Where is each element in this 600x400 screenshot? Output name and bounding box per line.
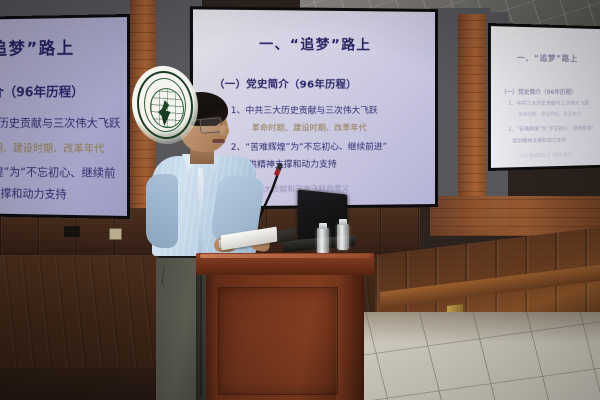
presenter-nose [220, 125, 229, 136]
bottle-cap [339, 219, 347, 225]
lecture-hall-photo: 一、“追梦”路上 （一）党史简介（96年历程） 1、中共三大历史贡献与三次伟大飞… [0, 0, 600, 400]
cable [46, 236, 112, 251]
water-bottle [337, 224, 349, 250]
shirt-placket [198, 168, 203, 254]
podium-side [336, 274, 364, 400]
podium-shadow [196, 274, 216, 400]
podium-front-panel [218, 287, 338, 395]
trouser-pocket [161, 267, 187, 292]
left-screen-frame [0, 14, 130, 219]
bottle-cap [319, 223, 327, 229]
right-screen-frame [488, 23, 600, 171]
water-bottle [317, 228, 329, 254]
podium-top-highlight [200, 254, 370, 258]
presenter-mouth [212, 139, 225, 144]
right-projection-screen: 一、“追梦”路上 （一）党史简介（96年历程） 1、中共三大历史贡献与三次伟大飞… [488, 23, 600, 171]
presenter-left-arm [146, 174, 178, 248]
podium [196, 253, 374, 400]
left-projection-screen: 一、“追梦”路上 （一）党史简介（96年历程） 1、中共三大历史贡献与三次伟大飞… [0, 14, 130, 219]
